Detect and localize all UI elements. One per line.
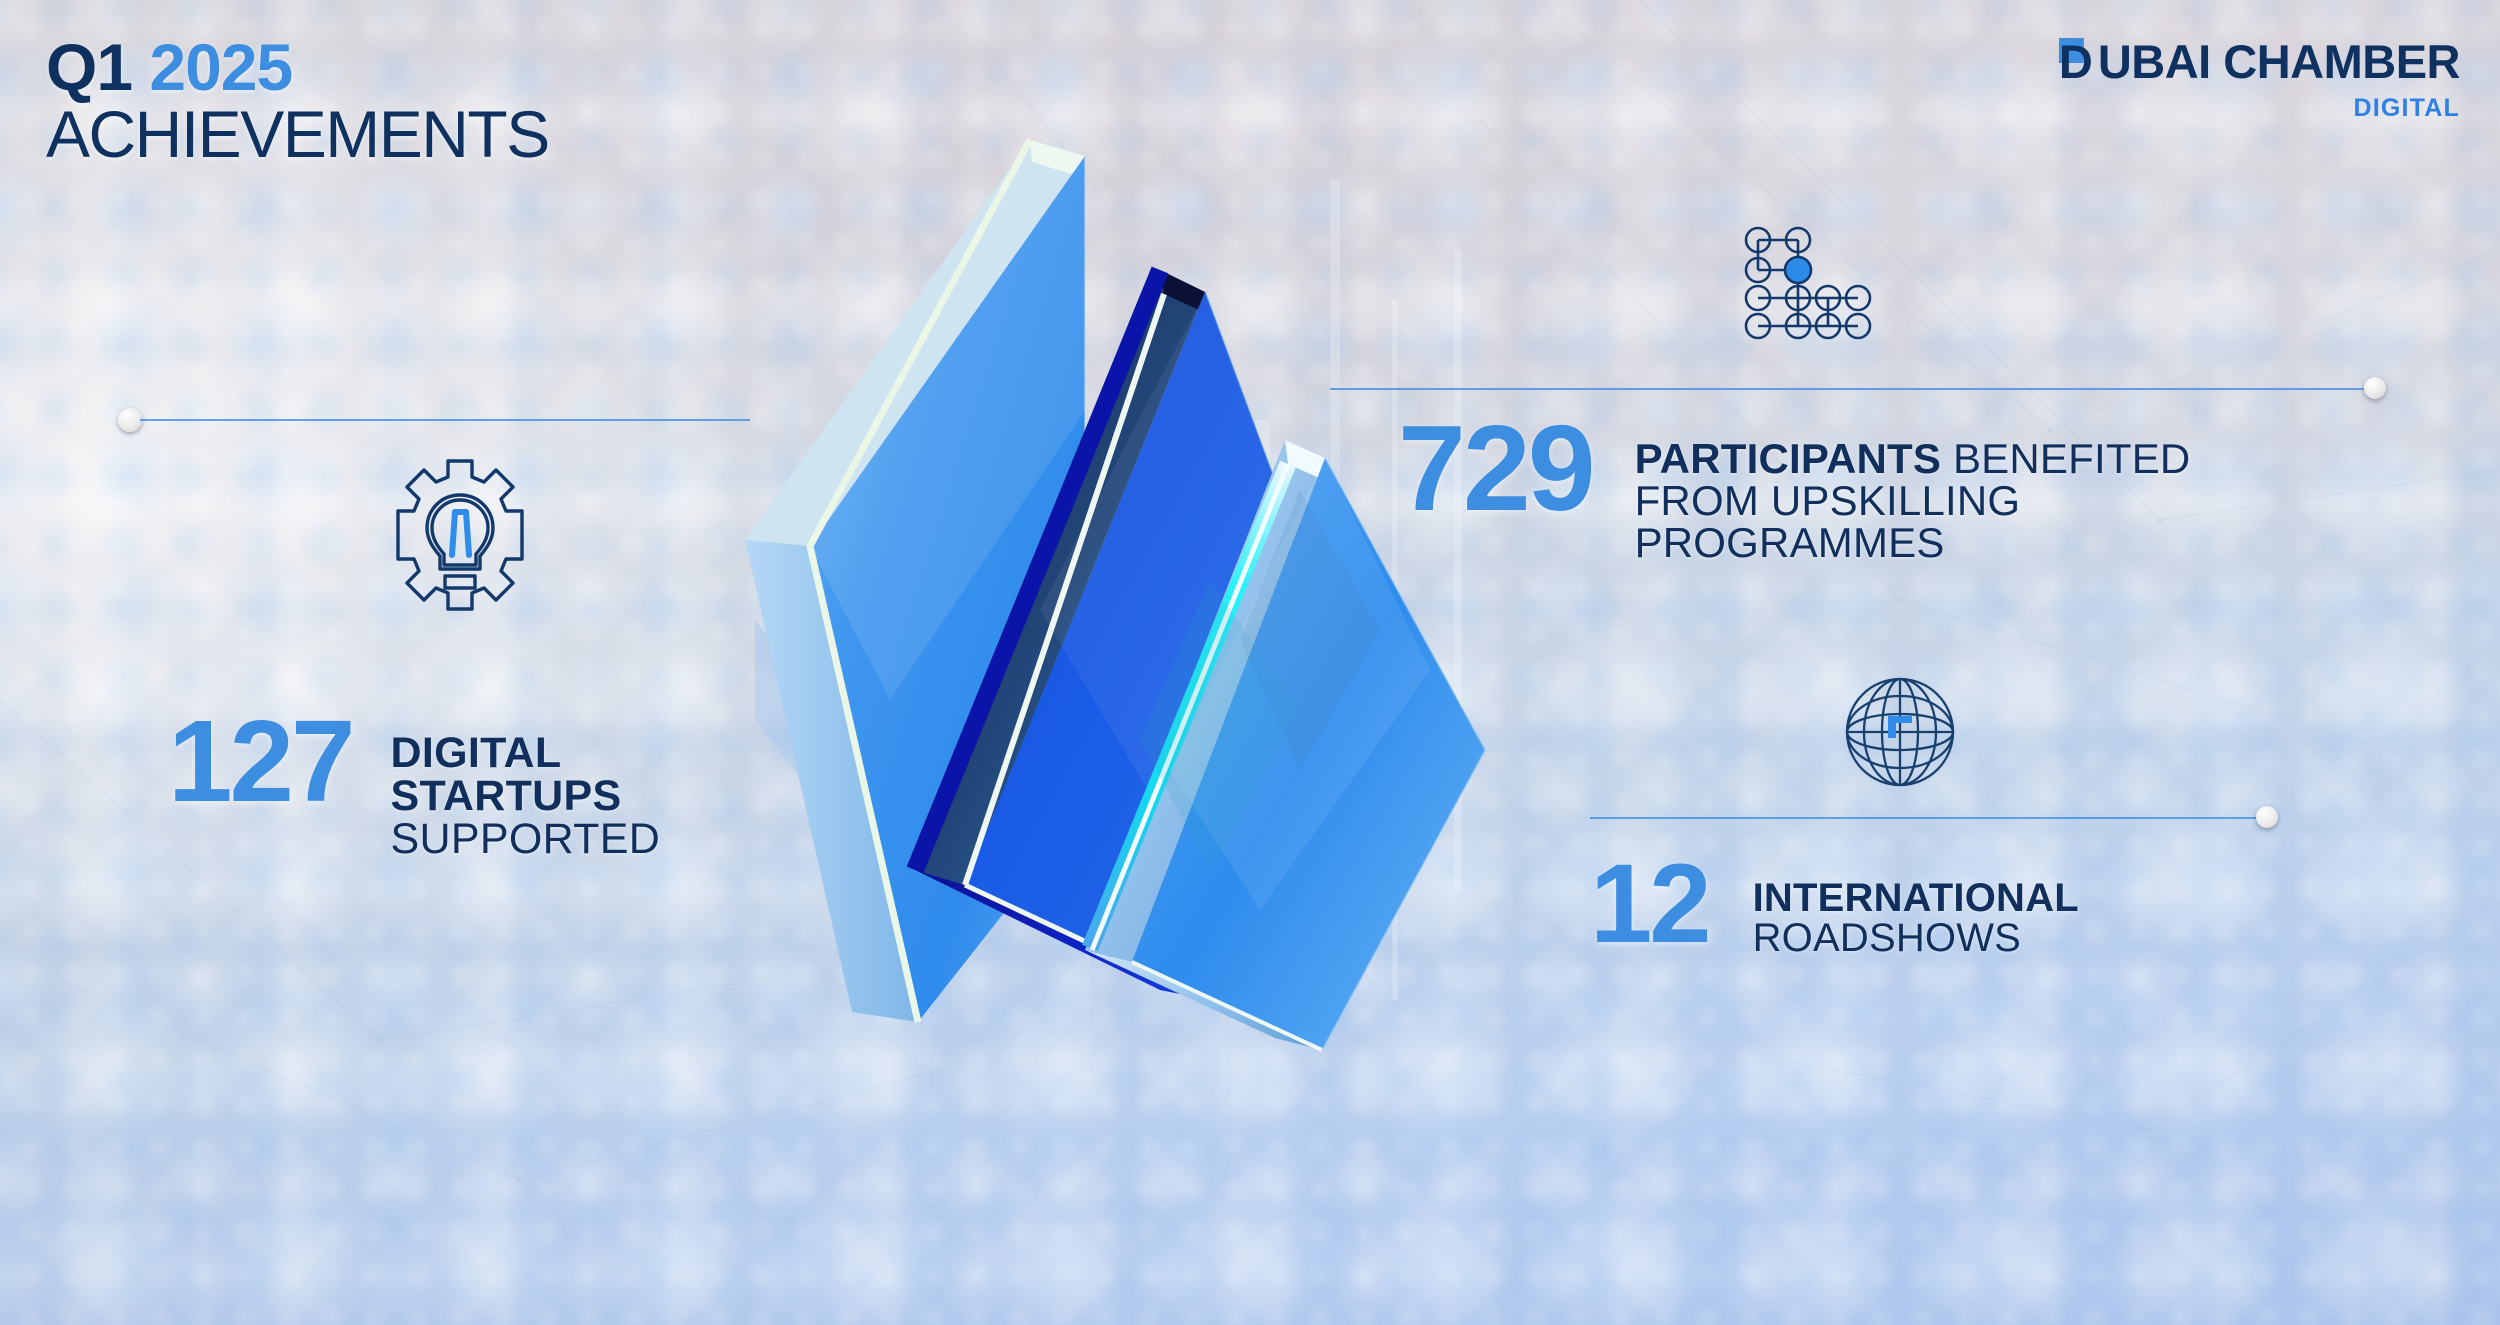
stat-startups-value: 127 bbox=[168, 712, 353, 812]
stat-participants-label-line-1: PARTICIPANTS BENEFITED bbox=[1635, 438, 2191, 480]
page-title: Q1 2025 ACHIEVEMENTS bbox=[46, 36, 549, 167]
infographic-canvas: Q1 2025 ACHIEVEMENTS D UBAI CHAMBER DIGI… bbox=[0, 0, 2500, 1325]
stat-roadshows: 12 INTERNATIONAL ROADSHOWS bbox=[1590, 856, 2079, 958]
connector-line-startups bbox=[140, 419, 750, 421]
d-letter: D bbox=[2059, 38, 2092, 86]
brand-subtitle: DIGITAL bbox=[2059, 94, 2460, 123]
network-active-node-icon bbox=[1785, 257, 1811, 283]
connector-dot-participants bbox=[2364, 377, 2386, 399]
stat-roadshows-label-line-2: ROADSHOWS bbox=[1753, 918, 2079, 958]
globe-icon bbox=[1838, 672, 1962, 796]
connector-line-participants bbox=[1330, 388, 2376, 390]
stat-startups-label: DIGITAL STARTUPS SUPPORTED bbox=[391, 732, 661, 861]
connector-line-roadshows bbox=[1590, 817, 2270, 819]
stat-participants-label: PARTICIPANTS BENEFITED FROM UPSKILLING P… bbox=[1635, 438, 2191, 564]
title-quarter: Q1 bbox=[46, 30, 132, 104]
stat-roadshows-label: INTERNATIONAL ROADSHOWS bbox=[1753, 878, 2079, 958]
gear-lightbulb-icon bbox=[380, 455, 540, 615]
title-year: 2025 bbox=[149, 30, 292, 104]
stat-startups-label-line-2: STARTUPS bbox=[391, 775, 661, 818]
brand-logo: D UBAI CHAMBER DIGITAL bbox=[2059, 38, 2460, 123]
stat-participants: 729 PARTICIPANTS BENEFITED FROM UPSKILLI… bbox=[1398, 416, 2190, 564]
stat-participants-label-line-3: PROGRAMMES bbox=[1635, 522, 2191, 564]
stat-roadshows-label-line-1: INTERNATIONAL bbox=[1753, 878, 2079, 918]
brand-wordmark: D UBAI CHAMBER bbox=[2059, 38, 2460, 86]
stat-roadshows-value: 12 bbox=[1590, 856, 1709, 952]
stat-startups-label-line-1: DIGITAL bbox=[391, 732, 661, 775]
nested-chevron-diamonds-graphic bbox=[740, 110, 1760, 1325]
stat-participants-value: 729 bbox=[1398, 416, 1593, 521]
title-line-2: ACHIEVEMENTS bbox=[46, 103, 549, 166]
stat-participants-label-line-2: FROM UPSKILLING bbox=[1635, 480, 2191, 522]
stat-startups-label-line-3: SUPPORTED bbox=[391, 818, 661, 861]
brand-name: UBAI CHAMBER bbox=[2098, 38, 2460, 86]
title-line-1: Q1 2025 bbox=[46, 36, 549, 99]
network-nodes-icon bbox=[1730, 218, 1880, 348]
connector-dot-startups bbox=[118, 408, 142, 432]
dubai-d-mark-icon: D bbox=[2059, 38, 2097, 86]
stat-startups: 127 DIGITAL STARTUPS SUPPORTED bbox=[168, 712, 660, 861]
connector-dot-roadshows bbox=[2256, 806, 2278, 828]
